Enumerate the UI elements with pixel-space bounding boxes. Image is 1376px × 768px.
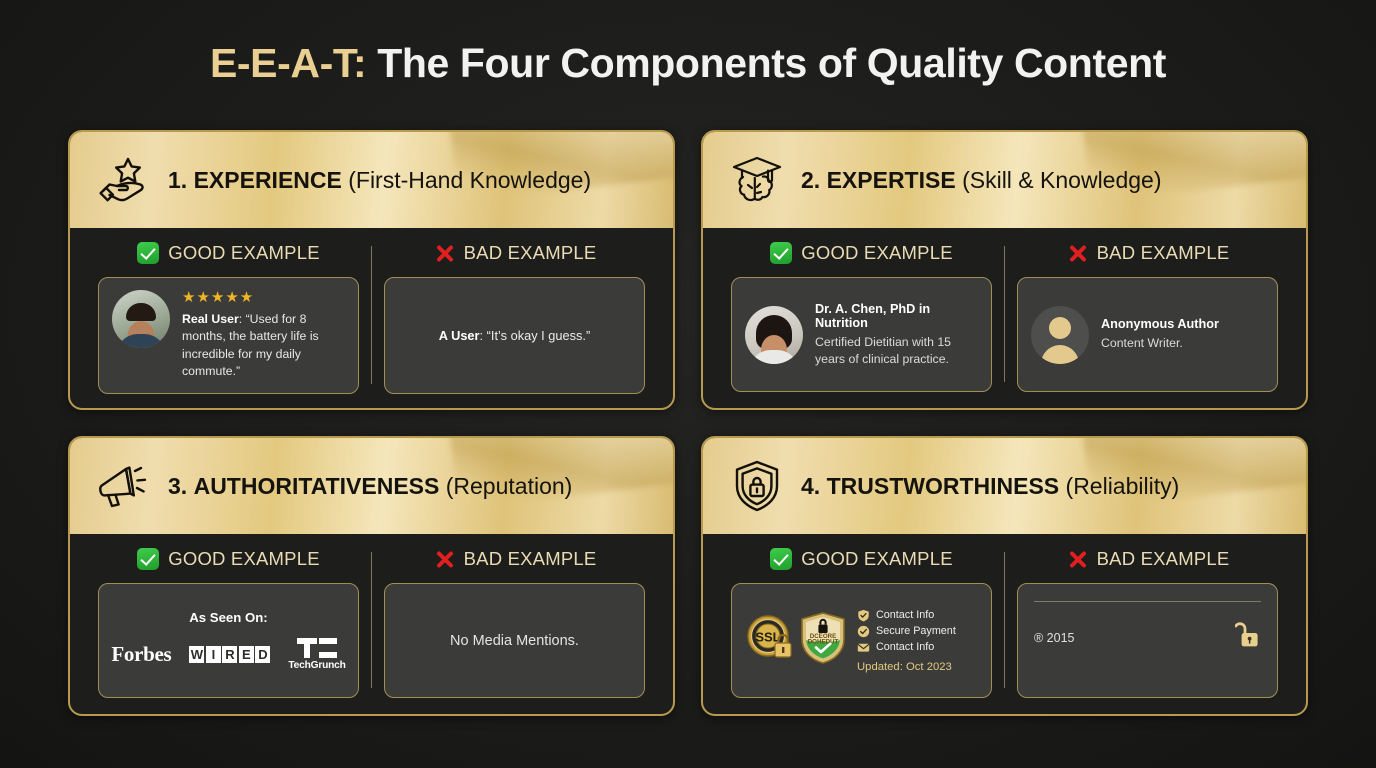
badge-line2: DOHEDUT: [808, 638, 839, 645]
card-body-expertise: GOOD EXAMPLE Dr. A. Chen, PhD in Nutriti…: [703, 228, 1306, 408]
cross-icon: [433, 242, 455, 264]
review: ★★★★★ Real User: “Used for 8 months, the…: [112, 290, 345, 381]
trust-badges: SSL: [745, 596, 978, 685]
bad-example-label: BAD EXAMPLE: [433, 548, 597, 570]
trust-item-label: Contact Info: [876, 641, 934, 653]
bad-example-panel: ® 2015: [1017, 583, 1278, 698]
trust-item-label: Contact Info: [876, 609, 934, 621]
good-example-label: GOOD EXAMPLE: [137, 242, 319, 264]
good-column: GOOD EXAMPLE Dr. A. Chen, PhD in Nutriti…: [719, 242, 1004, 392]
good-example-label: GOOD EXAMPLE: [770, 548, 952, 570]
good-column: GOOD EXAMPLE ★★★★★ Real User: “Used for …: [86, 242, 371, 394]
page-title: E-E-A-T: The Four Components of Quality …: [0, 0, 1376, 126]
copyright-text: ® 2015: [1034, 631, 1075, 645]
bad-example-text: BAD EXAMPLE: [464, 548, 597, 570]
secure-checkout-shield-badge: DCEORE DOHEDUT: [799, 611, 847, 670]
author-name: Anonymous Author: [1101, 317, 1219, 331]
bad-example-panel: Anonymous Author Content Writer.: [1017, 277, 1278, 392]
card-title-experience: 1. EXPERIENCE (First-Hand Knowledge): [168, 167, 591, 194]
card-number: 1.: [168, 167, 187, 193]
check-icon: [137, 548, 159, 570]
card-number: 2.: [801, 167, 820, 193]
bad-example-text: BAD EXAMPLE: [1097, 242, 1230, 264]
card-title-expertise: 2. EXPERTISE (Skill & Knowledge): [801, 167, 1162, 194]
good-column: GOOD EXAMPLE SSL: [719, 548, 1004, 698]
cards-grid: 1. EXPERIENCE (First-Hand Knowledge) GOO…: [68, 130, 1308, 716]
good-column: GOOD EXAMPLE As Seen On: Forbes W I R: [86, 548, 371, 698]
bad-example-label: BAD EXAMPLE: [433, 242, 597, 264]
review-text: Real User: “Used for 8 months, the batte…: [182, 311, 345, 381]
bad-example-text: BAD EXAMPLE: [464, 242, 597, 264]
card-number: 3.: [168, 473, 187, 499]
trust-item-label: Secure Payment: [876, 625, 956, 637]
card-body-trustworthiness: GOOD EXAMPLE SSL: [703, 534, 1306, 714]
envelope-icon: [857, 641, 870, 654]
graduation-cap-brain-icon: [729, 152, 785, 208]
divider-line: [1034, 601, 1261, 602]
bad-review-text: A User: “It’s okay I guess.”: [425, 328, 605, 343]
card-authoritativeness: 3. AUTHORITATIVENESS (Reputation) GOOD E…: [68, 436, 675, 716]
card-name: AUTHORITATIVENESS: [194, 473, 440, 499]
card-title-trustworthiness: 4. TRUSTWORTHINESS (Reliability): [801, 473, 1179, 500]
bad-column: BAD EXAMPLE A User: “It’s okay I guess.”: [372, 242, 657, 394]
bad-column: BAD EXAMPLE ® 2015: [1005, 548, 1290, 698]
card-subtitle: (Reputation): [446, 473, 573, 499]
techcrunch-logo: TechGrunch: [288, 638, 345, 671]
bad-review-quote: : “It’s okay I guess.”: [480, 328, 591, 343]
check-circle-icon: [857, 625, 870, 638]
check-icon: [770, 242, 792, 264]
trust-item: Secure Payment: [857, 625, 978, 638]
unlocked-padlock-icon: [1235, 620, 1261, 655]
wired-letter: D: [255, 646, 270, 663]
column-divider: [1004, 552, 1005, 688]
bad-column: BAD EXAMPLE Anonymous Author Content Wri…: [1005, 242, 1290, 392]
review-author: Real User: [182, 312, 239, 326]
avatar: [745, 306, 803, 364]
card-subtitle: (First-Hand Knowledge): [348, 167, 591, 193]
techcrunch-wordmark: TechGrunch: [288, 660, 345, 671]
card-name: EXPERIENCE: [194, 167, 342, 193]
card-body-authoritativeness: GOOD EXAMPLE As Seen On: Forbes W I R: [70, 534, 673, 714]
card-trustworthiness: 4. TRUSTWORTHINESS (Reliability) GOOD EX…: [701, 436, 1308, 716]
good-example-text: GOOD EXAMPLE: [168, 242, 319, 264]
forbes-logo: Forbes: [111, 642, 171, 667]
avatar-placeholder-icon: [1031, 306, 1089, 364]
cross-icon: [1066, 548, 1088, 570]
avatar: [112, 290, 170, 348]
trust-item: Contact Info: [857, 609, 978, 622]
card-subtitle: (Reliability): [1066, 473, 1180, 499]
card-body-experience: GOOD EXAMPLE ★★★★★ Real User: “Used for …: [70, 228, 673, 410]
author-card: Dr. A. Chen, PhD in Nutrition Certified …: [745, 290, 978, 379]
column-divider: [371, 246, 372, 384]
check-icon: [137, 242, 159, 264]
star-rating: ★★★★★: [182, 290, 345, 305]
ssl-seal-badge: SSL: [745, 612, 795, 669]
title-accent: E-E-A-T:: [210, 40, 366, 86]
card-name: EXPERTISE: [827, 167, 956, 193]
good-example-panel: Dr. A. Chen, PhD in Nutrition Certified …: [731, 277, 992, 392]
good-example-text: GOOD EXAMPLE: [801, 548, 952, 570]
card-experience: 1. EXPERIENCE (First-Hand Knowledge) GOO…: [68, 130, 675, 410]
cross-icon: [1066, 242, 1088, 264]
author-description: Certified Dietitian with 15 years of cli…: [815, 334, 978, 368]
media-logos: As Seen On: Forbes W I R E D: [99, 610, 358, 671]
card-title-authoritativeness: 3. AUTHORITATIVENESS (Reputation): [168, 473, 572, 500]
shield-lock-icon: [729, 458, 785, 514]
wired-letter: I: [206, 646, 221, 663]
bad-example-text: BAD EXAMPLE: [1097, 548, 1230, 570]
card-expertise: 2. EXPERTISE (Skill & Knowledge) GOOD EX…: [701, 130, 1308, 410]
bad-review-author: A User: [439, 328, 480, 343]
card-header-authoritativeness: 3. AUTHORITATIVENESS (Reputation): [70, 438, 673, 534]
author-description: Content Writer.: [1101, 335, 1219, 352]
card-header-trustworthiness: 4. TRUSTWORTHINESS (Reliability): [703, 438, 1306, 534]
card-number: 4.: [801, 473, 820, 499]
card-header-experience: 1. EXPERIENCE (First-Hand Knowledge): [70, 132, 673, 228]
good-example-text: GOOD EXAMPLE: [801, 242, 952, 264]
trust-item: Contact Info: [857, 641, 978, 654]
card-subtitle: (Skill & Knowledge): [962, 167, 1161, 193]
hand-holding-star-icon: [96, 152, 152, 208]
title-rest: The Four Components of Quality Content: [377, 40, 1166, 86]
column-divider: [371, 552, 372, 688]
cross-icon: [433, 548, 455, 570]
updated-date: Updated: Oct 2023: [857, 661, 978, 673]
no-media-mentions-text: No Media Mentions.: [450, 633, 579, 649]
wired-logo: W I R E D: [189, 646, 270, 663]
as-seen-on-heading: As Seen On:: [189, 610, 267, 625]
techcrunch-mark-icon: [297, 638, 337, 658]
good-example-label: GOOD EXAMPLE: [770, 242, 952, 264]
good-example-panel: SSL: [731, 583, 992, 698]
infographic-page: E-E-A-T: The Four Components of Quality …: [0, 0, 1376, 768]
ssl-text: SSL: [755, 630, 780, 645]
shield-icon: [857, 609, 870, 622]
wired-letter: W: [189, 646, 204, 663]
bad-example-label: BAD EXAMPLE: [1066, 548, 1230, 570]
bad-example-panel: A User: “It’s okay I guess.”: [384, 277, 645, 394]
card-header-expertise: 2. EXPERTISE (Skill & Knowledge): [703, 132, 1306, 228]
column-divider: [1004, 246, 1005, 382]
wired-letter: R: [222, 646, 237, 663]
good-example-panel: ★★★★★ Real User: “Used for 8 months, the…: [98, 277, 359, 394]
wired-letter: E: [239, 646, 254, 663]
author-name: Dr. A. Chen, PhD in Nutrition: [815, 302, 978, 330]
author-card: Anonymous Author Content Writer.: [1031, 290, 1264, 379]
megaphone-icon: [96, 458, 152, 514]
bad-column: BAD EXAMPLE No Media Mentions.: [372, 548, 657, 698]
good-example-panel: As Seen On: Forbes W I R E D: [98, 583, 359, 698]
bad-example-panel: No Media Mentions.: [384, 583, 645, 698]
check-icon: [770, 548, 792, 570]
bad-example-label: BAD EXAMPLE: [1066, 242, 1230, 264]
card-name: TRUSTWORTHINESS: [827, 473, 1060, 499]
good-example-label: GOOD EXAMPLE: [137, 548, 319, 570]
good-example-text: GOOD EXAMPLE: [168, 548, 319, 570]
